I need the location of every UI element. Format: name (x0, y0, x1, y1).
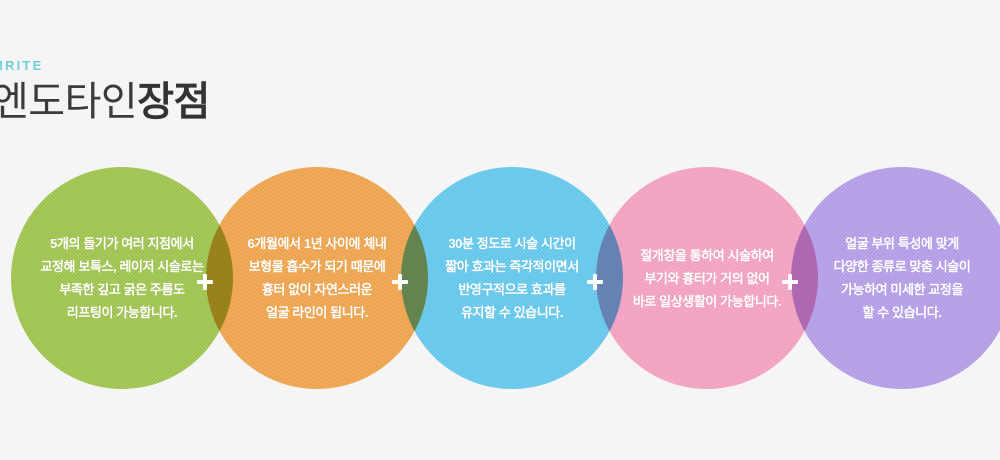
benefit-line: 반영구적으로 효과를 (409, 278, 615, 301)
benefit-bubble-5-text: 얼굴 부위 특성에 맞게 다양한 종류로 맞춤 시술이 가능하여 미세한 교정을… (799, 232, 1000, 324)
benefit-bubble-2-text: 6개월에서 1년 사이에 체내 보형물 흡수가 되기 때문에 흉터 없이 자연스… (214, 232, 420, 324)
benefit-line: 절개창을 통하여 시술하여 (604, 244, 810, 267)
benefit-bubble-1: 5개의 돌기가 여러 지점에서 교정해 보톡스, 레이저 시술로는 부족한 깊고… (11, 167, 233, 389)
benefit-line: 교정해 보톡스, 레이저 시술로는 (19, 255, 225, 278)
benefit-line: 부기와 흉터가 거의 없어 (604, 267, 810, 290)
benefit-line: 5개의 돌기가 여러 지점에서 (19, 232, 225, 255)
benefit-line: 얼굴 라인이 됩니다. (214, 301, 420, 324)
benefit-line: 보형물 흡수가 되기 때문에 (214, 255, 420, 278)
benefit-line: 바로 일상생활이 가능합니다. (604, 290, 810, 313)
eyebrow-label: MRITE (0, 58, 412, 74)
benefit-line: 다양한 종류로 맞춤 시술이 (799, 255, 1000, 278)
benefit-circle-row: 5개의 돌기가 여러 지점에서 교정해 보톡스, 레이저 시술로는 부족한 깊고… (0, 167, 1000, 391)
benefit-bubble-1-text: 5개의 돌기가 여러 지점에서 교정해 보톡스, 레이저 시술로는 부족한 깊고… (19, 232, 225, 324)
benefit-line: 리프팅이 가능합니다. (19, 301, 225, 324)
benefit-line: 흉터 없이 자연스러운 (214, 278, 420, 301)
benefit-line: 얼굴 부위 특성에 맞게 (799, 232, 1000, 255)
page-title-light: 엔도타인 (0, 80, 137, 124)
page-title-bold: 장점 (137, 80, 210, 124)
benefit-bubble-5: 얼굴 부위 특성에 맞게 다양한 종류로 맞춤 시술이 가능하여 미세한 교정을… (791, 167, 1000, 389)
page-heading: MRITE 엔도타인장점 (0, 58, 412, 126)
benefit-line: 6개월에서 1년 사이에 체내 (214, 232, 420, 255)
benefit-line: 30분 정도로 시술 시간이 (409, 232, 615, 255)
benefit-line: 할 수 있습니다. (799, 301, 1000, 324)
benefit-line: 유지할 수 있습니다. (409, 301, 615, 324)
benefit-bubble-4: 절개창을 통하여 시술하여 부기와 흉터가 거의 없어 바로 일상생활이 가능합… (596, 167, 818, 389)
benefit-bubble-2: 6개월에서 1년 사이에 체내 보형물 흡수가 되기 때문에 흉터 없이 자연스… (206, 167, 428, 389)
benefit-line: 가능하여 미세한 교정을 (799, 278, 1000, 301)
benefit-line: 짧아 효과는 즉각적이면서 (409, 255, 615, 278)
benefit-bubble-4-text: 절개창을 통하여 시술하여 부기와 흉터가 거의 없어 바로 일상생활이 가능합… (604, 244, 810, 313)
benefit-line: 부족한 깊고 굵은 주름도 (19, 278, 225, 301)
page-root: MRITE 엔도타인장점 5개의 돌기가 여러 지점에서 교정해 보톡스, 레이… (0, 0, 1000, 460)
page-title: 엔도타인장점 (0, 78, 412, 126)
benefit-bubble-3: 30분 정도로 시술 시간이 짧아 효과는 즉각적이면서 반영구적으로 효과를 … (401, 167, 623, 389)
benefit-bubble-3-text: 30분 정도로 시술 시간이 짧아 효과는 즉각적이면서 반영구적으로 효과를 … (409, 232, 615, 324)
